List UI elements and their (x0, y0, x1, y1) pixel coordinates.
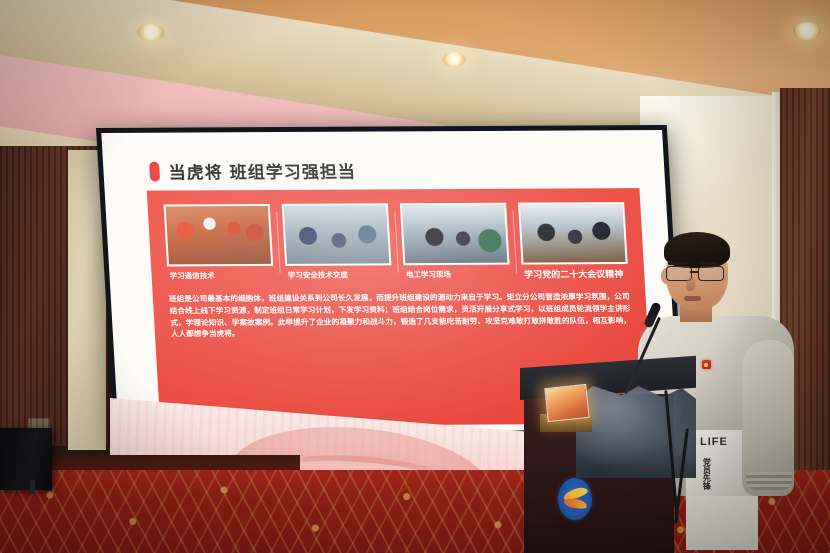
photo-caption: 学习安全技术交底 (286, 270, 393, 281)
party-lapel-pin-icon (702, 360, 711, 369)
presenter-mouth (684, 296, 701, 301)
loudspeaker-stand (30, 480, 35, 494)
slide-title: 当虎将 班组学习强担当 (168, 158, 357, 184)
lectern-podium (520, 368, 696, 553)
eyeglasses-icon (665, 266, 727, 279)
photo-cell: 学习通信技术 (158, 204, 281, 282)
eyeglass-bridge (690, 271, 698, 273)
title-bullet-icon (149, 161, 160, 181)
eyeglass-lens (698, 266, 724, 281)
presenter-eyebrow (698, 262, 718, 265)
loudspeaker-cabinet (0, 428, 52, 490)
slide-title-row: 当虎将 班组学习强担当 (149, 156, 645, 184)
podium-metal-panel (576, 386, 696, 478)
presenter-sleeve-cuff (746, 472, 792, 490)
photo-cell: 学习安全技术交底 (276, 203, 399, 281)
conference-room-scene: 当虎将 班组学习强担当 学习通信技术 学习安全技术交底 (0, 0, 830, 553)
presenter-eyebrow (668, 262, 688, 265)
presenter-nose (686, 278, 695, 291)
podium-reading-lamp (544, 384, 589, 422)
photo-party-congress-study (518, 202, 628, 264)
company-logo-icon (558, 478, 592, 520)
photo-row: 学习通信技术 学习安全技术交底 电工学习现场 (147, 188, 645, 284)
photo-caption: 学习通信技术 (167, 271, 274, 282)
photo-electrician-training (400, 203, 510, 265)
photo-safety-briefing (282, 203, 392, 265)
photo-cell: 电工学习现场 (394, 203, 517, 281)
photo-caption: 电工学习现场 (404, 270, 511, 281)
photo-communication-training (164, 204, 274, 266)
logo-swirl-lower (563, 497, 587, 509)
photo-caption: 学习党的二十大会议精神 (522, 269, 629, 282)
podium-panel-highlight (576, 386, 696, 478)
slide-body-text: 班组是公司最基本的细胞体，班组建设关系到公司长久发展，而提升班组建设的源动力来自… (152, 281, 648, 341)
photo-cell: 学习党的二十大会议精神 (512, 202, 635, 282)
